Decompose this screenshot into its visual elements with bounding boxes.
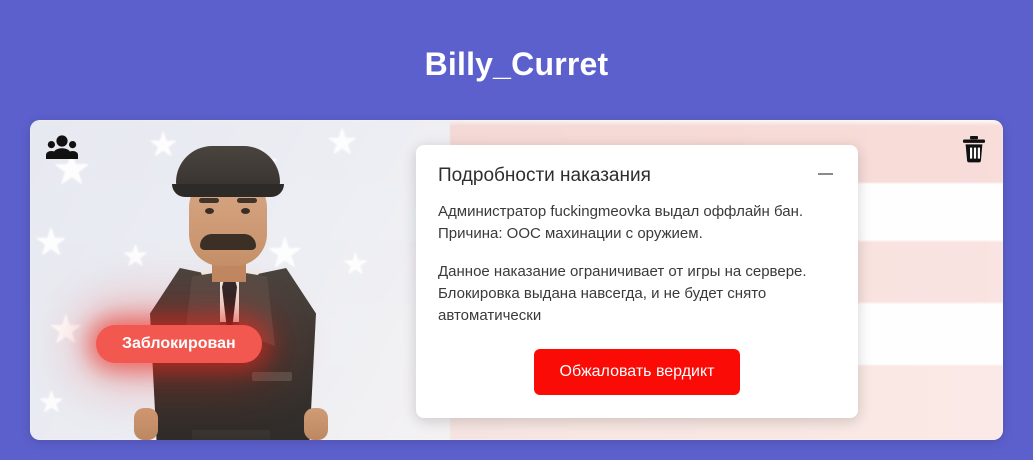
punishment-reason-text: Администратор fuckingmeovka выдал оффлай…: [438, 201, 836, 245]
character-hand-left: [134, 408, 158, 440]
punishment-scope-text: Данное наказание ограничивает от игры на…: [438, 261, 836, 327]
appeal-verdict-button[interactable]: Обжаловать вердикт: [534, 349, 741, 395]
character-hat-brim: [172, 184, 284, 197]
profile-card: ★ ★ ★ ★ ★ ★ ★ ★ ★ ★ ★ ★ Заблокирован: [30, 120, 1003, 440]
users-group-icon[interactable]: [46, 134, 78, 162]
star-decor: ★: [342, 250, 369, 280]
star-decor: ★: [48, 310, 84, 350]
character-mustache: [200, 234, 256, 250]
panel-header: Подробности наказания: [438, 163, 836, 189]
character-eye-right: [241, 208, 250, 214]
character-render: [126, 140, 341, 440]
minus-icon-bar: [818, 173, 833, 175]
character-brow-left: [199, 198, 219, 203]
star-decor: ★: [38, 388, 65, 418]
character-legs: [192, 430, 270, 440]
character-brow-right: [237, 198, 257, 203]
character-pocket: [252, 372, 292, 381]
character-eye-left: [205, 208, 214, 214]
page-title: Billy_Curret: [0, 44, 1033, 84]
character-hand-right: [304, 408, 328, 440]
star-decor: ★: [34, 224, 68, 262]
panel-body: Администратор fuckingmeovka выдал оффлай…: [438, 201, 836, 327]
panel-title: Подробности наказания: [438, 163, 651, 189]
trash-icon[interactable]: [961, 134, 987, 164]
punishment-details-panel: Подробности наказания Администратор fuck…: [416, 145, 858, 418]
status-badge: Заблокирован: [96, 325, 262, 363]
minus-icon[interactable]: [814, 163, 836, 185]
